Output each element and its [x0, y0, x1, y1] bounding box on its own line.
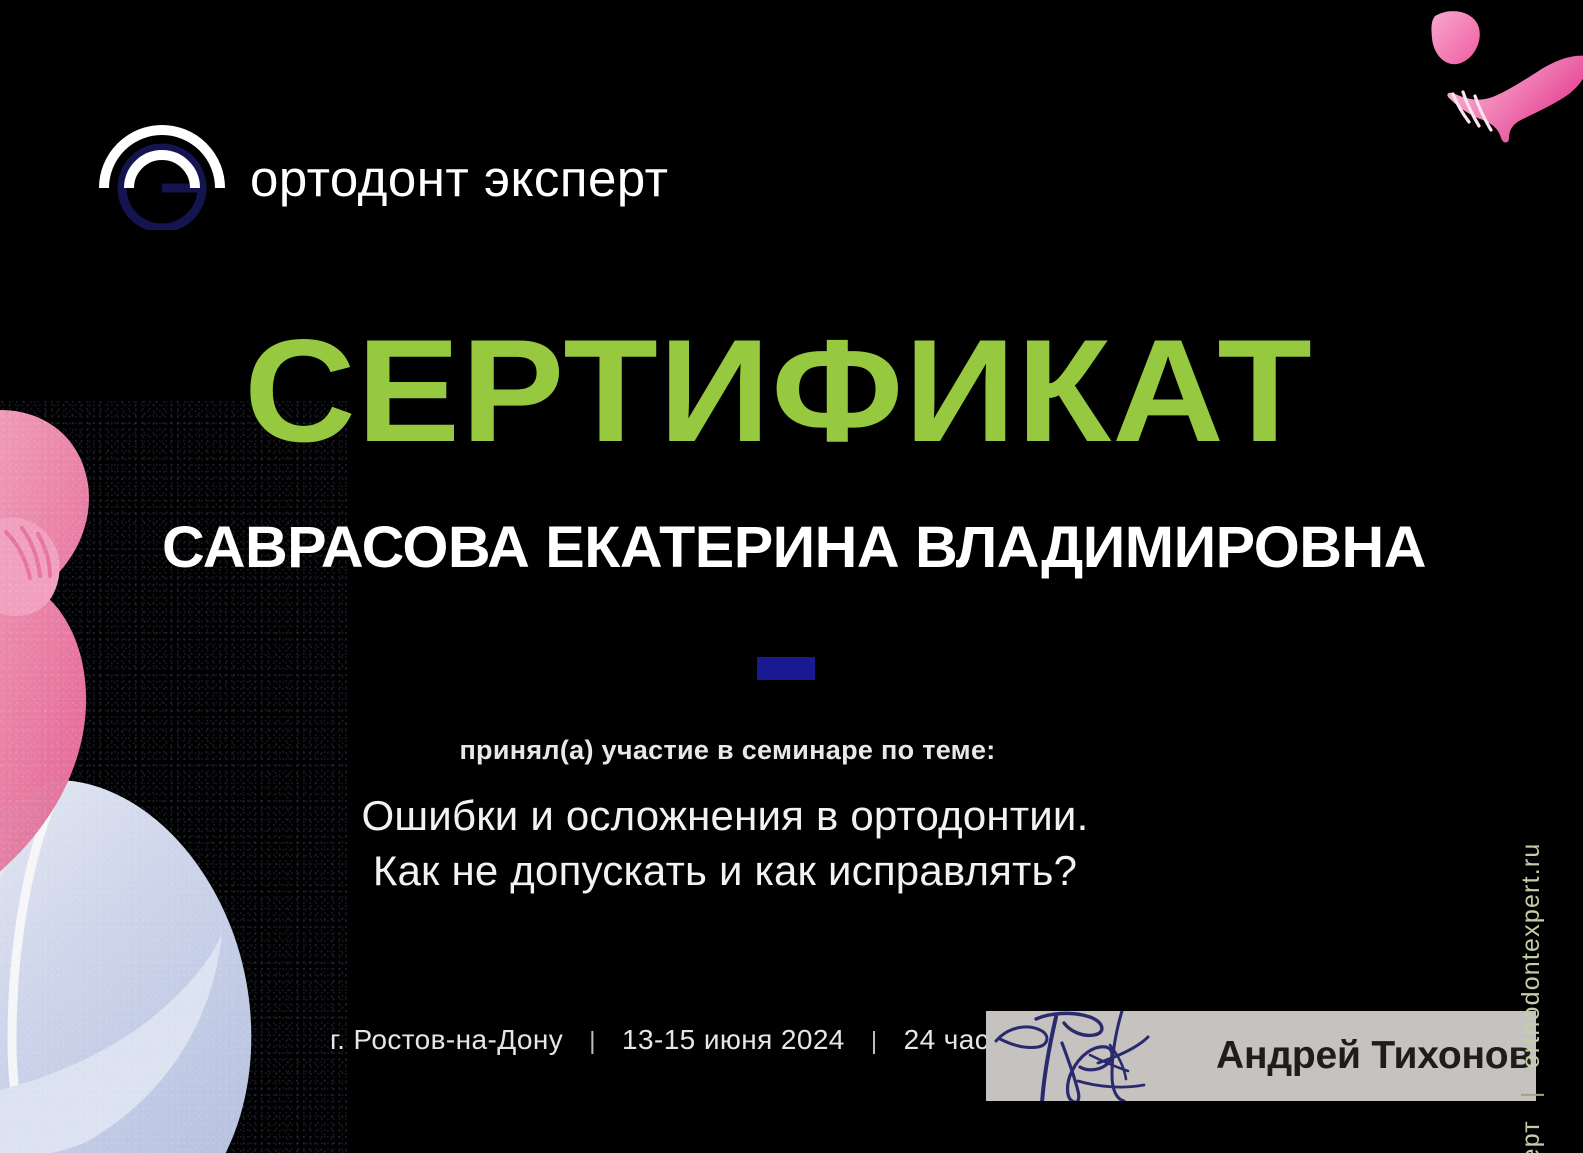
brand-logo: ортодонт эксперт — [96, 118, 668, 230]
doctor-illustration — [0, 400, 350, 1153]
footer-dates: 13-15 июня 2024 — [622, 1024, 845, 1056]
side-website: orthodontexpert.ru — [1517, 842, 1546, 1068]
footer-meta: г. Ростов-на-Дону | 13-15 июня 2024 | 24… — [330, 1024, 1005, 1056]
side-separator: | — [1517, 1090, 1546, 1098]
side-hashtag: #ортодонтэксперт — [1517, 1120, 1546, 1153]
certificate-canvas: ортодонт эксперт — [0, 0, 1583, 1153]
seminar-topic: Ошибки и осложнения в ортодонтии. Как не… — [0, 788, 1450, 899]
brand-wordmark: ортодонт эксперт — [250, 153, 668, 204]
page-title: СЕРТИФИКАТ — [244, 318, 1313, 464]
topic-line-1: Ошибки и осложнения в ортодонтии. — [0, 788, 1450, 843]
recipient-name: САВРАСОВА ЕКАТЕРИНА ВЛАДИМИРОВНА — [162, 514, 1457, 581]
footer-separator-2: | — [871, 1027, 878, 1056]
topic-line-2: Как не допускать и как исправлять? — [0, 843, 1450, 898]
signer-name: Андрей Тихонов — [1216, 1034, 1532, 1078]
concentric-arcs-logo-icon — [96, 118, 228, 230]
side-brand-text: #ортодонтэксперт | orthodontexpert.ru — [1517, 842, 1546, 1153]
texture-overlay — [0, 400, 350, 1153]
signature-block: Андрей Тихонов — [986, 1011, 1536, 1101]
footer-separator-1: | — [589, 1027, 596, 1056]
participation-subtitle: принял(а) участие в семинаре по теме: — [0, 735, 1455, 766]
handwritten-signature-icon — [986, 1011, 1216, 1101]
pink-hand-decoration-icon — [1397, 0, 1583, 164]
footer-city: г. Ростов-на-Дону — [330, 1024, 563, 1056]
blue-redaction-mark — [757, 657, 815, 680]
